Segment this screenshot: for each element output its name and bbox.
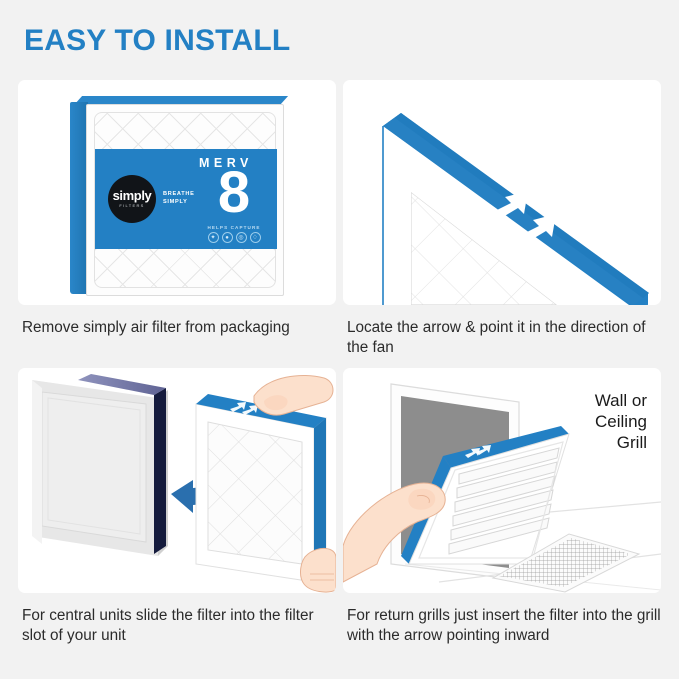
step-1-caption: Remove simply air filter from packaging: [18, 318, 336, 338]
brand-tagline: BREATHESIMPLY: [163, 191, 195, 206]
return-grill-insert: Wall or Ceiling Grill: [343, 368, 661, 593]
step-card-1: simply FILTERS BREATHESIMPLY MERV 8 HELP…: [18, 80, 336, 338]
grill-label-line-3: Grill: [595, 432, 647, 453]
steps-grid: simply FILTERS BREATHESIMPLY MERV 8 HELP…: [0, 76, 679, 676]
lint-icon: ♢: [250, 232, 261, 243]
box-front-face: simply FILTERS BREATHESIMPLY MERV 8 HELP…: [86, 104, 284, 296]
merv-rating-number: 8: [199, 164, 269, 222]
infographic-page: EASY TO INSTALL simply FILTERS BRE: [0, 0, 679, 679]
brand-sub: FILTERS: [119, 203, 144, 208]
brand-name: simply: [113, 190, 152, 202]
step-1-figure: simply FILTERS BREATHESIMPLY MERV 8 HELP…: [18, 80, 336, 305]
step-card-3: For central units slide the filter into …: [18, 368, 336, 646]
central-unit-slide-in: [18, 368, 336, 593]
grill-label-line-1: Wall or: [595, 390, 647, 411]
product-label-band: simply FILTERS BREATHESIMPLY MERV 8 HELP…: [95, 149, 277, 249]
dust-icon: ●: [222, 232, 233, 243]
step-card-4: Wall or Ceiling Grill For return grills …: [343, 368, 661, 646]
page-title: EASY TO INSTALL: [24, 24, 290, 58]
step-2-caption: Locate the arrow & point it in the direc…: [343, 318, 661, 358]
airflow-arrow-band: [343, 80, 661, 305]
step-3-figure: [18, 368, 336, 593]
step-2-figure: [343, 80, 661, 305]
step-4-caption: For return grills just insert the filter…: [343, 606, 661, 646]
step-4-figure: Wall or Ceiling Grill: [343, 368, 661, 593]
filter-package-box: simply FILTERS BREATHESIMPLY MERV 8 HELP…: [70, 88, 288, 296]
mold-icon: ◎: [236, 232, 247, 243]
pollen-icon: ✦: [208, 232, 219, 243]
wall-ceiling-grill-label: Wall or Ceiling Grill: [595, 390, 647, 453]
step-card-2: Locate the arrow & point it in the direc…: [343, 80, 661, 358]
helps-capture-icons: ✦ ● ◎ ♢: [199, 232, 269, 243]
step-3-caption: For central units slide the filter into …: [18, 606, 336, 646]
brand-logo: simply FILTERS: [108, 175, 156, 223]
grill-label-line-2: Ceiling: [595, 411, 647, 432]
helps-capture-label: HELPS CAPTURE: [199, 225, 269, 230]
